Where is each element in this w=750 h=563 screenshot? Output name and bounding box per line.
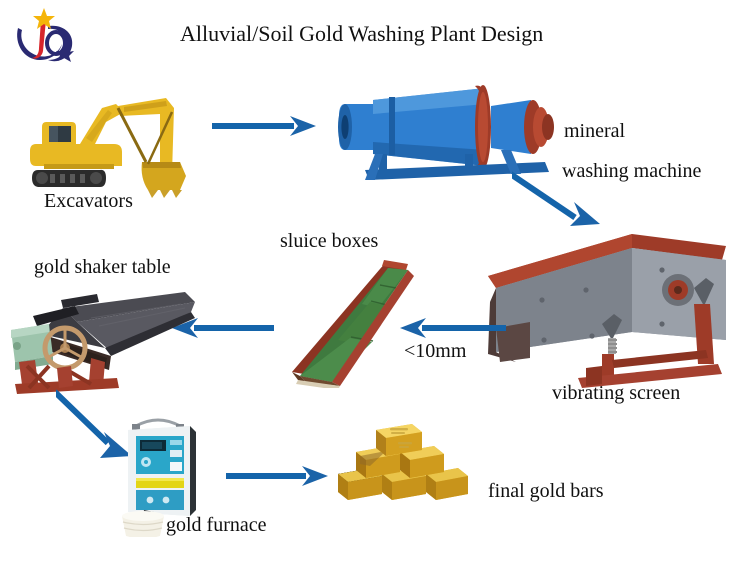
label-gold-furnace: gold furnace <box>166 514 267 536</box>
sluice-box-illustration <box>258 258 438 388</box>
gold-bars-illustration <box>330 418 490 508</box>
label-vibrating-screen: vibrating screen <box>552 382 680 404</box>
arrow-washer-to-screen <box>512 168 608 236</box>
vibrating-screen-illustration <box>482 228 732 388</box>
excavator-illustration <box>20 78 210 198</box>
label-sluice-boxes: sluice boxes <box>280 230 378 252</box>
diagram-canvas: Alluvial/Soil Gold Washing Plant Design <box>0 0 750 563</box>
arrow-excavator-to-washer <box>212 108 324 144</box>
label-final-gold-bars: final gold bars <box>488 480 604 502</box>
jq-logo <box>8 6 80 68</box>
gold-shaker-table-illustration <box>5 272 205 397</box>
page-title: Alluvial/Soil Gold Washing Plant Design <box>180 22 543 47</box>
arrow-furnace-to-bars <box>226 458 334 494</box>
label-excavators: Excavators <box>44 190 133 212</box>
label-gold-shaker-table: gold shaker table <box>34 256 171 278</box>
label-washing-machine-line1: mineral <box>564 120 625 142</box>
